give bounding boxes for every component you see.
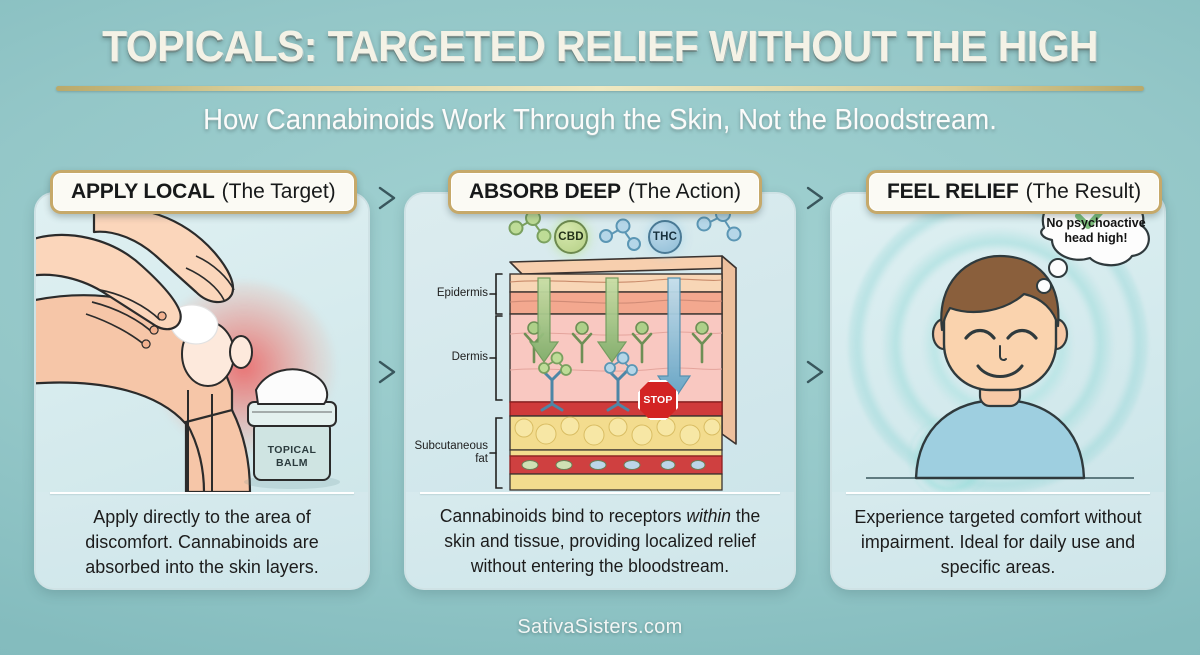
description-text-lead: Cannabinoids bind to receptors [440, 506, 687, 526]
molecule-badge-thc: THC [648, 220, 682, 254]
step-description-2: Cannabinoids bind to receptors within th… [423, 504, 776, 579]
description-emphasis: within [686, 506, 731, 526]
step-description-3: Experience targeted comfort without impa… [849, 504, 1148, 579]
thought-bubble-text: No psychoactive head high! [1028, 216, 1164, 246]
skin-layer-label-dermis: Dermis [406, 351, 488, 364]
skin-cross-section-diagram: CBD THC STOP Epidermis Dermis Subcutaneo… [406, 194, 794, 492]
step-card-absorb-deep[interactable]: CBD THC STOP Epidermis Dermis Subcutaneo… [404, 192, 796, 590]
page-subtitle: How Cannabinoids Work Through the Skin, … [30, 104, 1170, 137]
footer-site-credit: SativaSisters.com [0, 616, 1200, 639]
step-header-bold-1: APPLY LOCAL [71, 180, 215, 204]
step-card-feel-relief[interactable]: No psychoactive head high! Experience ta… [830, 192, 1166, 590]
connector-arrow-2-top [800, 184, 830, 212]
jar-label: TOPICAL BALM [254, 444, 330, 469]
relaxed-person-illustration: No psychoactive head high! [832, 194, 1164, 492]
step-header-apply-local[interactable]: APPLY LOCAL (The Target) [50, 170, 357, 214]
connector-arrow-1-mid [372, 358, 402, 386]
step-header-light-1: (The Target) [222, 180, 336, 204]
step-header-light-3: (The Result) [1026, 180, 1142, 204]
step-card-apply-local[interactable]: TOPICAL BALM Apply directly to the area … [34, 192, 370, 590]
card-divider [50, 492, 354, 494]
connector-arrow-2-mid [800, 358, 830, 386]
step-description-1: Apply directly to the area of discomfort… [53, 504, 352, 579]
page-title: TOPICALS: TARGETED RELIEF WITHOUT THE HI… [42, 22, 1158, 72]
molecule-badge-cbd: CBD [554, 220, 588, 254]
connector-arrow-1-top [372, 184, 402, 212]
step-header-light-2: (The Action) [628, 180, 741, 204]
step-header-feel-relief[interactable]: FEEL RELIEF (The Result) [866, 170, 1162, 214]
skin-layer-label-epidermis: Epidermis [406, 287, 488, 300]
step-header-bold-2: ABSORB DEEP [469, 180, 621, 204]
step-header-bold-3: FEEL RELIEF [887, 180, 1019, 204]
card-divider [420, 492, 780, 494]
stop-sign-icon: STOP [638, 380, 678, 420]
skin-layer-label-subcutaneous-fat: Subcutaneous fat [406, 440, 488, 466]
title-divider-rule [56, 86, 1144, 91]
step-header-absorb-deep[interactable]: ABSORB DEEP (The Action) [448, 170, 762, 214]
card-divider [846, 492, 1150, 494]
knee-application-illustration: TOPICAL BALM [36, 194, 368, 492]
infographic-canvas: TOPICALS: TARGETED RELIEF WITHOUT THE HI… [0, 0, 1200, 655]
